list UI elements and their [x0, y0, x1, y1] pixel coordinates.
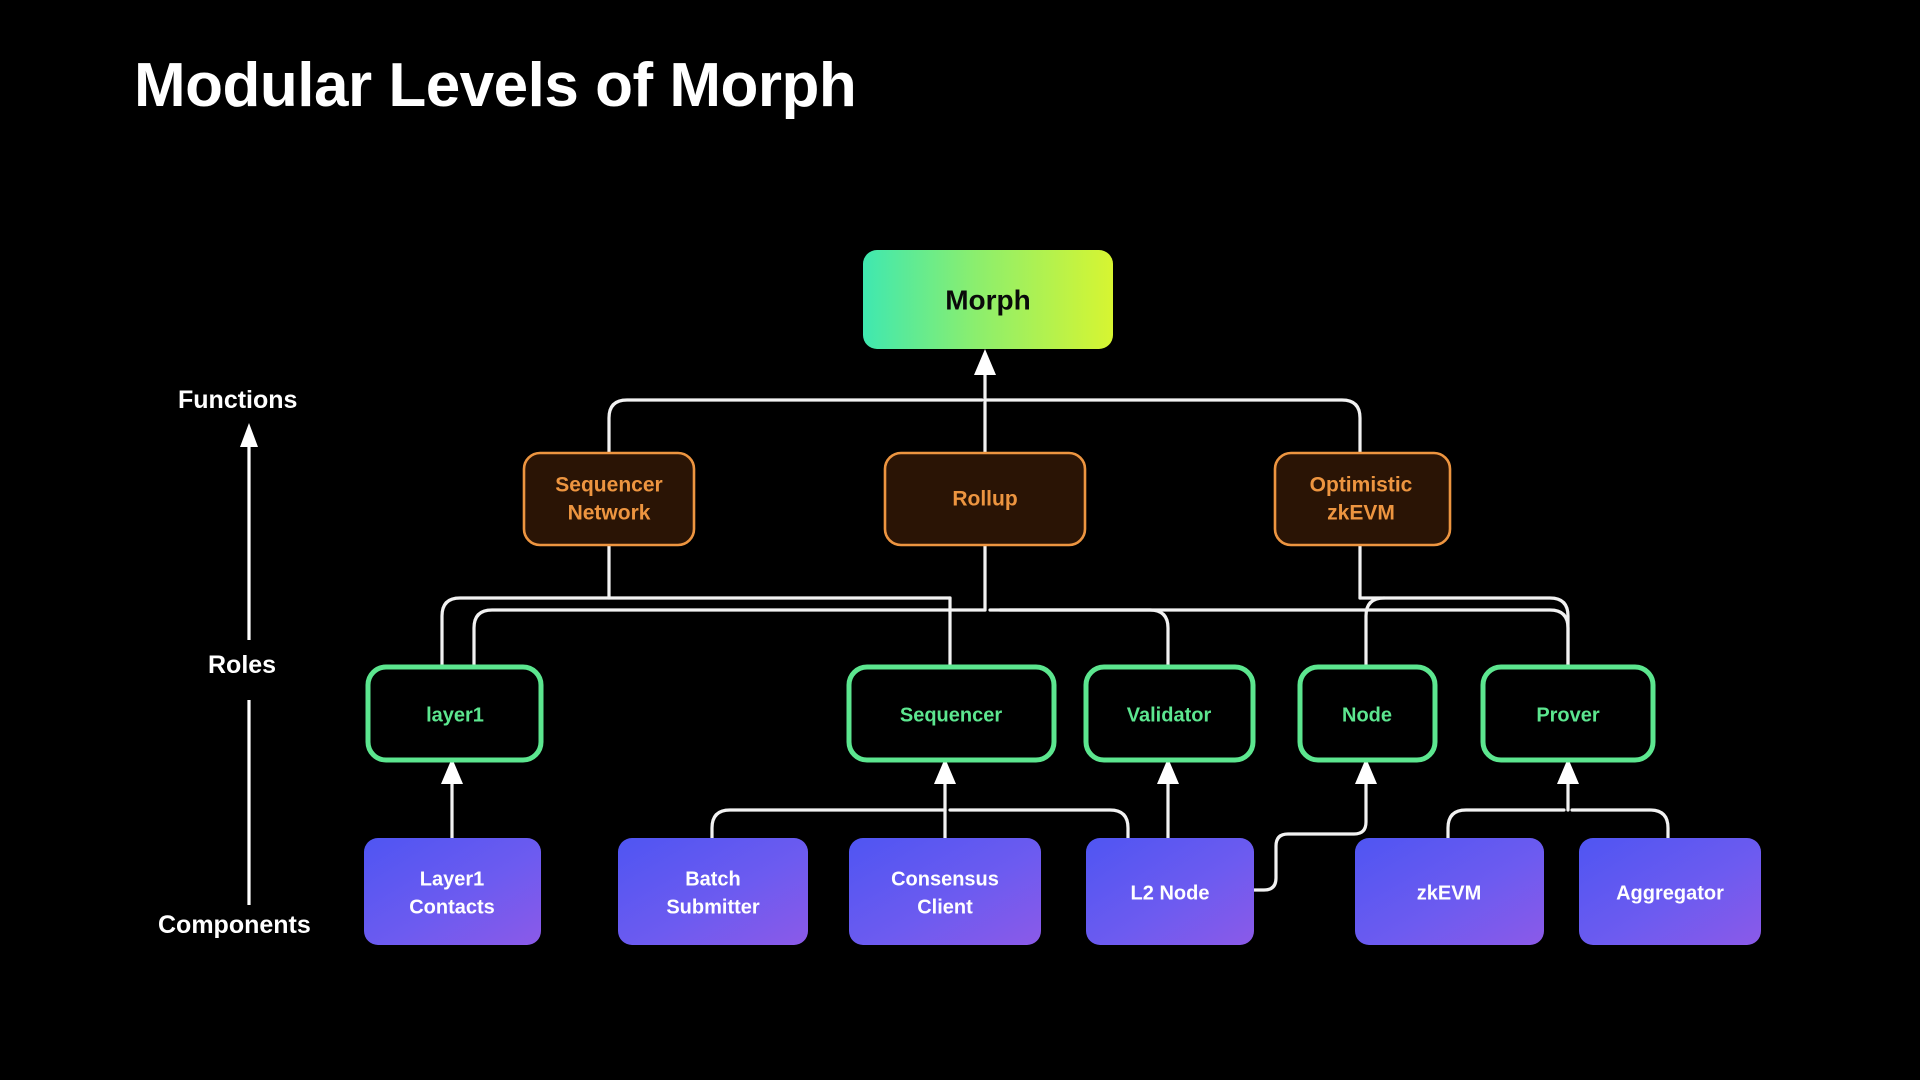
node-aggregator[interactable]: Aggregator — [1579, 838, 1761, 945]
edge-zkevm-to-prover — [1448, 810, 1564, 838]
node-layer1-contacts-label-line2: Contacts — [409, 896, 495, 918]
node-consensus-client-label-line2: Client — [917, 896, 973, 918]
node-optimistic-zkevm-label-line2: zkEVM — [1327, 502, 1395, 525]
edge-sequencer-network-to-morph — [609, 400, 982, 457]
edge-l2-node-to-node — [1254, 778, 1366, 890]
axis-arrowhead-icon — [240, 423, 258, 447]
node-layer1-contacts[interactable]: Layer1 Contacts — [364, 838, 541, 945]
edge-optimistic-zkevm-to-morph — [987, 400, 1360, 457]
node-node[interactable]: Node — [1300, 667, 1435, 760]
axis-label-roles: Roles — [208, 651, 276, 679]
edge-bus-sequencer-network — [442, 598, 950, 667]
edge-arrowhead-morph — [974, 349, 996, 375]
diagram-canvas: Modular Levels of Morph Functions Roles … — [0, 0, 1920, 1080]
edge-bus-rollup-right — [990, 610, 1568, 667]
node-batch-submitter[interactable]: Batch Submitter — [618, 838, 808, 945]
axis-label-components: Components — [158, 911, 311, 939]
node-sequencer-network-label-line1: Sequencer — [555, 474, 662, 497]
edge-validator-to-rollup — [1000, 610, 1168, 667]
node-zkevm-label: zkEVM — [1417, 882, 1481, 904]
node-rollup-label: Rollup — [952, 488, 1017, 511]
node-layer1-label: layer1 — [426, 704, 484, 726]
edge-node-to-optimistic-zkevm — [1360, 598, 1384, 667]
node-layer1-contacts-label-line1: Layer1 — [420, 868, 485, 890]
axis-label-functions: Functions — [178, 386, 297, 414]
node-validator-label: Validator — [1127, 704, 1212, 726]
node-morph[interactable]: Morph — [863, 250, 1113, 349]
edges-functions-to-morph — [609, 349, 1360, 457]
edge-aggregator-to-prover — [1572, 810, 1668, 838]
node-layer1[interactable]: layer1 — [368, 667, 541, 760]
edge-l2-node-to-sequencer — [950, 810, 1128, 838]
node-node-label: Node — [1342, 704, 1392, 726]
node-sequencer-network-label-line2: Network — [568, 502, 651, 525]
node-sequencer-network[interactable]: Sequencer Network — [524, 453, 694, 545]
node-sequencer[interactable]: Sequencer — [849, 667, 1054, 760]
node-l2-node[interactable]: L2 Node — [1086, 838, 1254, 945]
edge-bus-rollup-left — [474, 610, 985, 667]
node-sequencer-label: Sequencer — [900, 704, 1002, 726]
node-batch-submitter-label-line2: Submitter — [666, 896, 760, 918]
level-axis: Functions Roles Components — [158, 386, 311, 939]
node-consensus-client[interactable]: Consensus Client — [849, 838, 1041, 945]
node-consensus-client-label-line1: Consensus — [891, 868, 999, 890]
node-l2-node-label: L2 Node — [1131, 882, 1210, 904]
node-validator[interactable]: Validator — [1086, 667, 1253, 760]
node-aggregator-label: Aggregator — [1616, 882, 1724, 904]
node-prover[interactable]: Prover — [1483, 667, 1653, 760]
node-batch-submitter-label-line1: Batch — [685, 868, 741, 890]
node-optimistic-zkevm[interactable]: Optimistic zkEVM — [1275, 453, 1450, 545]
node-prover-label: Prover — [1536, 704, 1600, 726]
edge-batch-submitter-to-sequencer — [712, 810, 945, 838]
node-morph-label: Morph — [945, 284, 1031, 315]
node-optimistic-zkevm-label-line1: Optimistic — [1310, 474, 1413, 497]
node-zkevm[interactable]: zkEVM — [1355, 838, 1544, 945]
modular-levels-diagram: Functions Roles Components — [0, 0, 1920, 1080]
node-rollup[interactable]: Rollup — [885, 453, 1085, 545]
edge-prover-to-optimistic-zkevm — [1384, 598, 1568, 667]
